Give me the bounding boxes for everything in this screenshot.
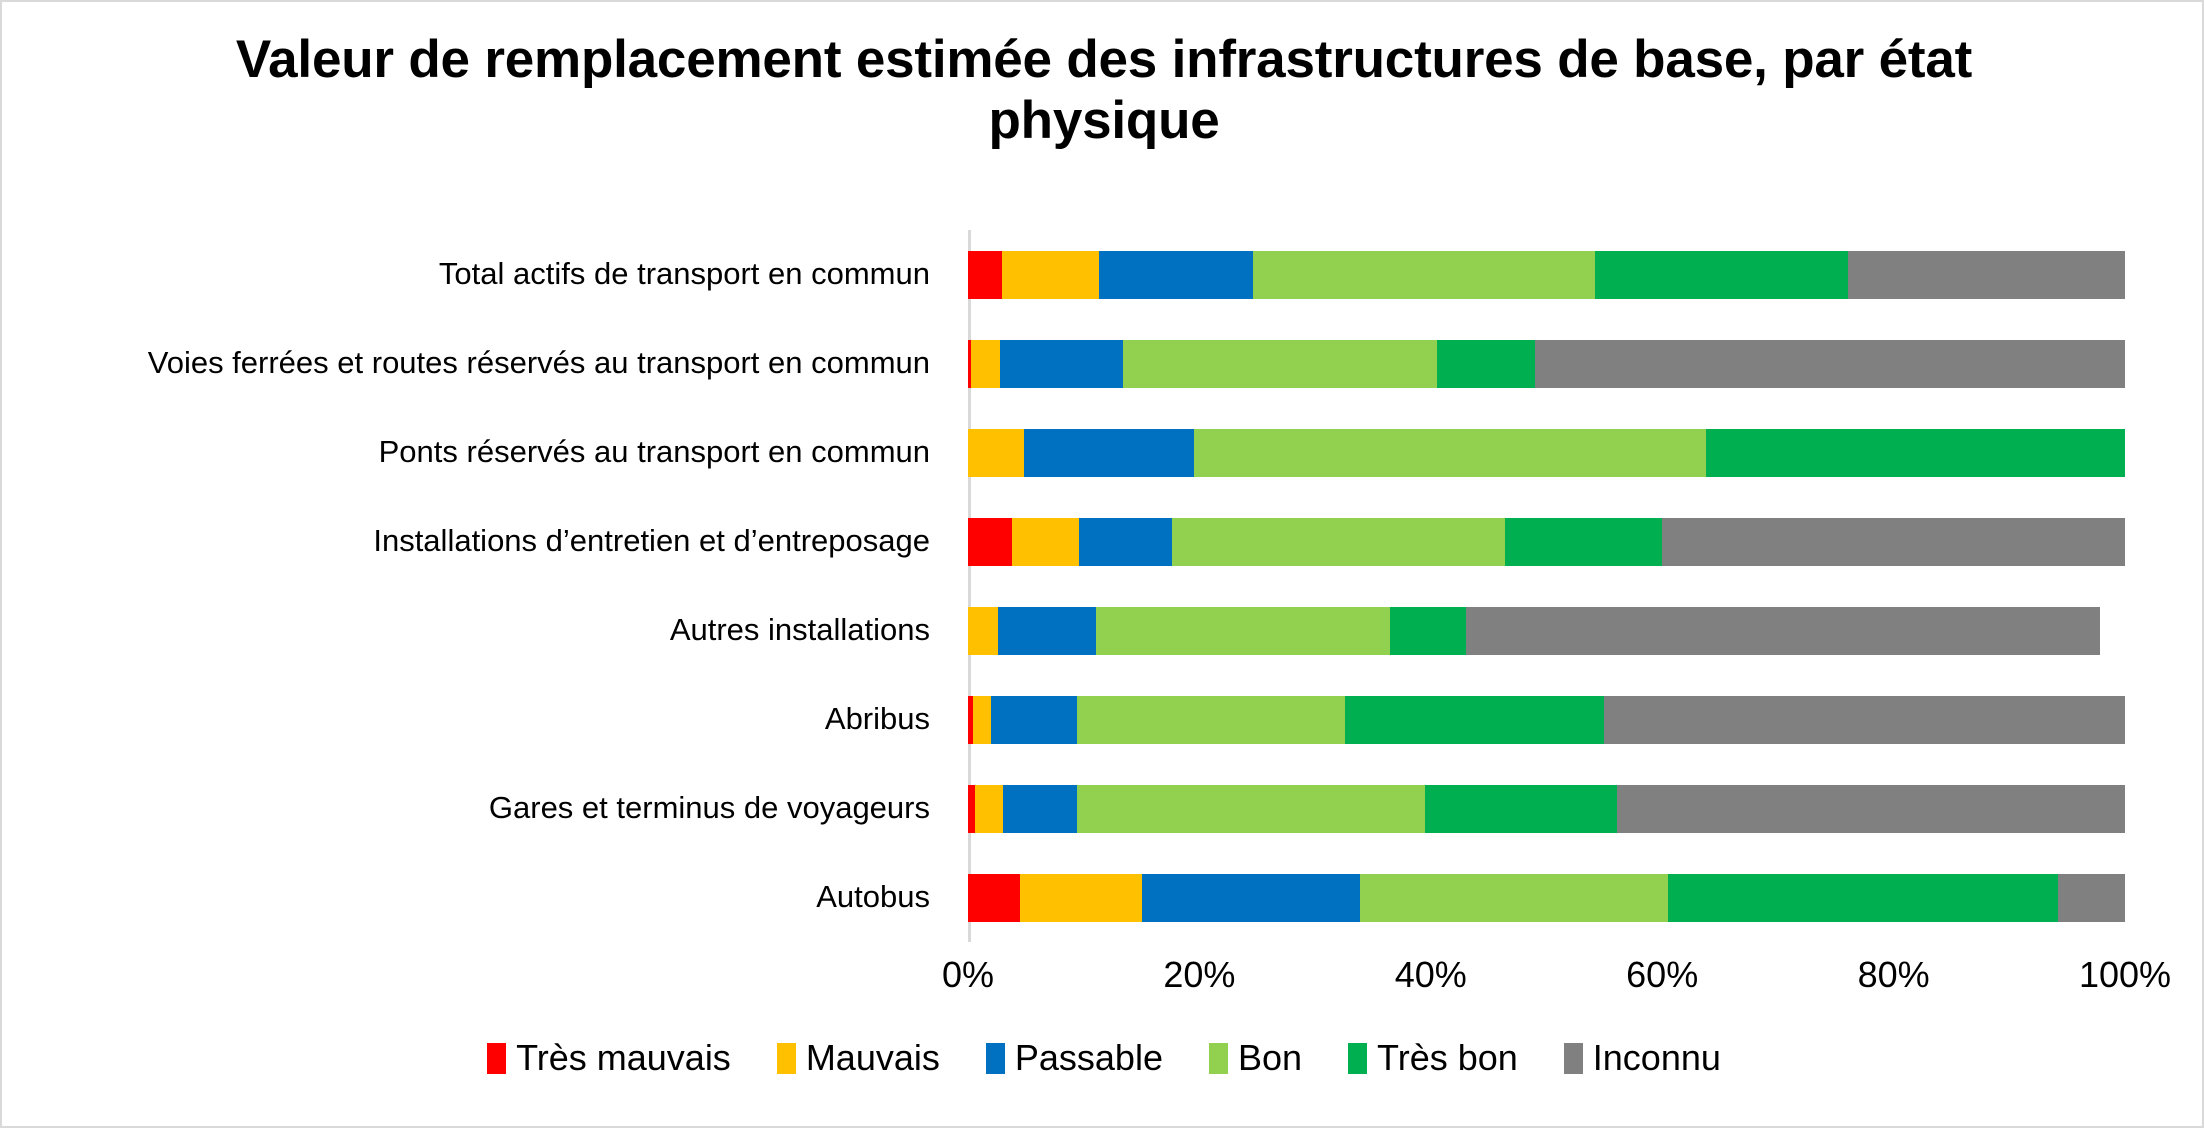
chart-container: Valeur de remplacement estimée des infra… (0, 0, 2204, 1128)
x-axis-tick-labels: 0%20%40%60%80%100% (968, 954, 2125, 1004)
legend-item[interactable]: Très bon (1348, 1037, 1518, 1079)
bar-row[interactable] (968, 251, 2125, 299)
legend-swatch-icon (1209, 1043, 1228, 1074)
category-label: Total actifs de transport en commun (439, 258, 930, 289)
bar-row[interactable] (968, 429, 2125, 477)
bar-segment[interactable] (1390, 607, 1465, 655)
bar-segment[interactable] (973, 696, 992, 744)
bar-segment[interactable] (1437, 340, 1535, 388)
bar-segment[interactable] (1706, 429, 2125, 477)
bar-segment[interactable] (968, 607, 998, 655)
bar-segment[interactable] (1077, 696, 1345, 744)
category-label: Voies ferrées et routes réservés au tran… (148, 347, 930, 378)
category-label: Ponts réservés au transport en commun (379, 436, 930, 467)
bar-segment[interactable] (968, 874, 1020, 922)
x-tick-label: 20% (1163, 954, 1235, 996)
bar-segment[interactable] (1123, 340, 1437, 388)
bar-segment[interactable] (1466, 607, 2100, 655)
bar-row[interactable] (968, 785, 2125, 833)
legend-swatch-icon (986, 1043, 1005, 1074)
x-tick-label: 80% (1858, 954, 1930, 996)
legend-label: Très mauvais (516, 1037, 731, 1079)
chart-legend: Très mauvaisMauvaisPassableBonTrès bonIn… (2, 1037, 2204, 1079)
bar-segment[interactable] (968, 785, 975, 833)
legend-label: Mauvais (806, 1037, 940, 1079)
bar-segment[interactable] (1668, 874, 2058, 922)
bar-segment[interactable] (968, 251, 1002, 299)
bar-segment[interactable] (968, 518, 1012, 566)
bar-segment[interactable] (1848, 251, 2125, 299)
bar-segment[interactable] (1077, 785, 1425, 833)
bar-segment[interactable] (1505, 518, 1662, 566)
legend-swatch-icon (777, 1043, 796, 1074)
bar-segment[interactable] (1096, 607, 1390, 655)
bar-segment[interactable] (1345, 696, 1604, 744)
bar-segment[interactable] (1617, 785, 2125, 833)
x-tick-label: 0% (942, 954, 994, 996)
legend-item[interactable]: Inconnu (1564, 1037, 1721, 1079)
bar-segment[interactable] (1024, 429, 1194, 477)
bar-row[interactable] (968, 874, 2125, 922)
category-label: Abribus (825, 703, 930, 734)
legend-swatch-icon (487, 1043, 506, 1074)
bar-row[interactable] (968, 696, 2125, 744)
bar-segment[interactable] (1253, 251, 1595, 299)
bar-segment[interactable] (1012, 518, 1079, 566)
legend-label: Très bon (1377, 1037, 1518, 1079)
bar-segment[interactable] (1595, 251, 1848, 299)
category-label: Autres installations (670, 614, 930, 645)
bar-segment[interactable] (1172, 518, 1505, 566)
bar-row[interactable] (968, 340, 2125, 388)
bar-segment[interactable] (1142, 874, 1361, 922)
legend-label: Bon (1238, 1037, 1302, 1079)
legend-item[interactable]: Bon (1209, 1037, 1302, 1079)
bar-segment[interactable] (971, 340, 1000, 388)
x-tick-label: 40% (1395, 954, 1467, 996)
bar-segment[interactable] (1662, 518, 2125, 566)
bar-segment[interactable] (1360, 874, 1668, 922)
bar-segment[interactable] (1000, 340, 1123, 388)
bar-segment[interactable] (2058, 874, 2125, 922)
bar-segment[interactable] (1194, 429, 1707, 477)
bar-segment[interactable] (998, 607, 1096, 655)
bar-segment[interactable] (1020, 874, 1141, 922)
category-label: Installations d’entretien et d’entreposa… (373, 525, 930, 556)
bar-segment[interactable] (1535, 340, 2125, 388)
bar-segment[interactable] (1425, 785, 1617, 833)
bar-row[interactable] (968, 607, 2125, 655)
category-label: Gares et terminus de voyageurs (489, 792, 930, 823)
bar-segment[interactable] (968, 429, 1024, 477)
legend-swatch-icon (1348, 1043, 1367, 1074)
bar-segment[interactable] (975, 785, 1003, 833)
bar-segment[interactable] (991, 696, 1077, 744)
category-label: Autobus (816, 881, 930, 912)
x-tick-label: 60% (1626, 954, 1698, 996)
legend-item[interactable]: Mauvais (777, 1037, 940, 1079)
chart-title: Valeur de remplacement estimée des infra… (122, 30, 2086, 152)
category-axis-labels: Total actifs de transport en communVoies… (2, 230, 948, 942)
legend-label: Passable (1015, 1037, 1163, 1079)
bar-row[interactable] (968, 518, 2125, 566)
legend-item[interactable]: Passable (986, 1037, 1163, 1079)
bar-segment[interactable] (1002, 251, 1099, 299)
bar-segment[interactable] (1099, 251, 1253, 299)
legend-swatch-icon (1564, 1043, 1583, 1074)
bar-segment[interactable] (1079, 518, 1172, 566)
legend-item[interactable]: Très mauvais (487, 1037, 731, 1079)
x-tick-label: 100% (2079, 954, 2171, 996)
plot-area (968, 230, 2125, 942)
bar-segment[interactable] (1604, 696, 2125, 744)
legend-label: Inconnu (1593, 1037, 1721, 1079)
bar-segment[interactable] (1003, 785, 1077, 833)
